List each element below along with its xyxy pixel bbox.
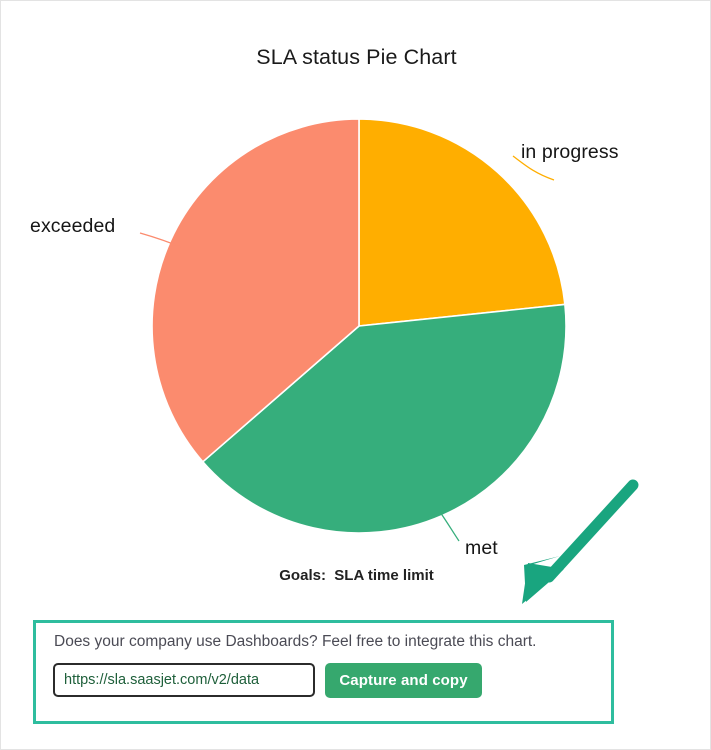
- embed-panel: Does your company use Dashboards? Feel f…: [33, 620, 614, 724]
- embed-prompt-text: Does your company use Dashboards? Feel f…: [54, 633, 536, 651]
- chart-page: SLA status Pie Chart in progress exceede…: [0, 0, 711, 750]
- arrow-shaft: [549, 485, 633, 577]
- embed-url-input[interactable]: [53, 663, 315, 697]
- page-title: SLA status Pie Chart: [1, 45, 711, 70]
- down-left-arrow-icon: [506, 466, 656, 616]
- pie-chart: [152, 119, 566, 533]
- pie-label-met: met: [465, 537, 498, 560]
- arrow-head: [522, 563, 564, 604]
- pie-label-in-progress: in progress: [521, 141, 619, 164]
- pie-chart-svg: [152, 119, 566, 533]
- capture-and-copy-button[interactable]: Capture and copy: [325, 663, 482, 698]
- pie-label-exceeded: exceeded: [30, 215, 115, 238]
